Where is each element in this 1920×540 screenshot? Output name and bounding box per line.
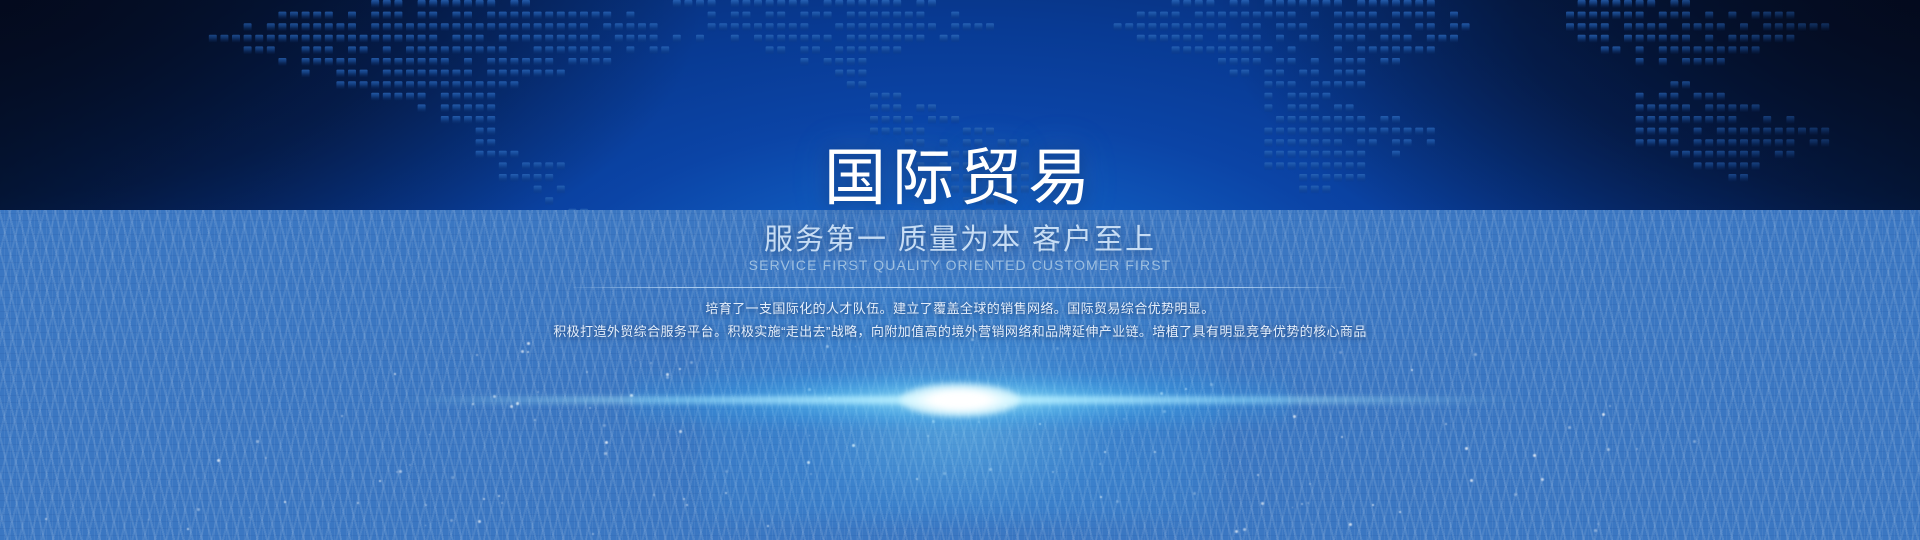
page-title: 国际贸易 [0, 148, 1920, 210]
banner-text-content: 国际贸易 服务第一 质量为本 客户至上 SERVICE FIRST QUALIT… [0, 0, 1920, 540]
subtitle-chinese: 服务第一 质量为本 客户至上 [0, 226, 1920, 255]
horizontal-divider [573, 287, 1345, 288]
body-text-line-2: 积极打造外贸综合服务平台。积极实施“走出去”战略，向附加值高的境外营销网络和品牌… [0, 325, 1920, 338]
international-trade-hero-banner: 国际贸易 服务第一 质量为本 客户至上 SERVICE FIRST QUALIT… [0, 0, 1920, 540]
subtitle-english: SERVICE FIRST QUALITY ORIENTED CUSTOMER … [0, 258, 1920, 272]
body-text-line-1: 培育了一支国际化的人才队伍。建立了覆盖全球的销售网络。国际贸易综合优势明显。 [0, 302, 1920, 315]
